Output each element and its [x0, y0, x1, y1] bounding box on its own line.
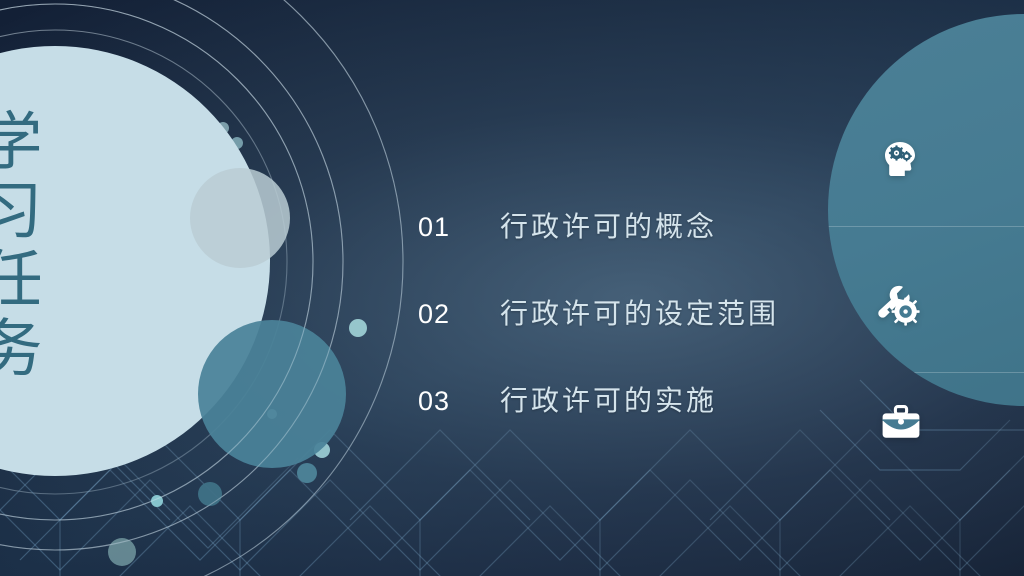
presentation-slide: 学习任务 [0, 0, 1024, 576]
section-divider-1 [828, 226, 1024, 227]
list-item[interactable]: 01 行政许可的概念 [418, 205, 838, 292]
list-item-number: 03 [418, 386, 500, 417]
section-divider-2 [828, 372, 1024, 373]
task-list: 01 行政许可的概念 02 行政许可的设定范围 03 行政许可的实施 [418, 205, 838, 466]
list-item-number: 01 [418, 212, 500, 243]
head-gears-icon[interactable] [876, 136, 924, 184]
briefcase-icon[interactable] [878, 400, 924, 446]
list-item-label: 行政许可的实施 [500, 379, 717, 419]
list-item-label: 行政许可的设定范围 [500, 292, 779, 332]
list-item-label: 行政许可的概念 [500, 205, 717, 245]
list-item[interactable]: 03 行政许可的实施 [418, 379, 838, 466]
wrench-gear-icon[interactable] [872, 278, 926, 332]
list-item[interactable]: 02 行政许可的设定范围 [418, 292, 838, 379]
list-item-number: 02 [418, 299, 500, 330]
